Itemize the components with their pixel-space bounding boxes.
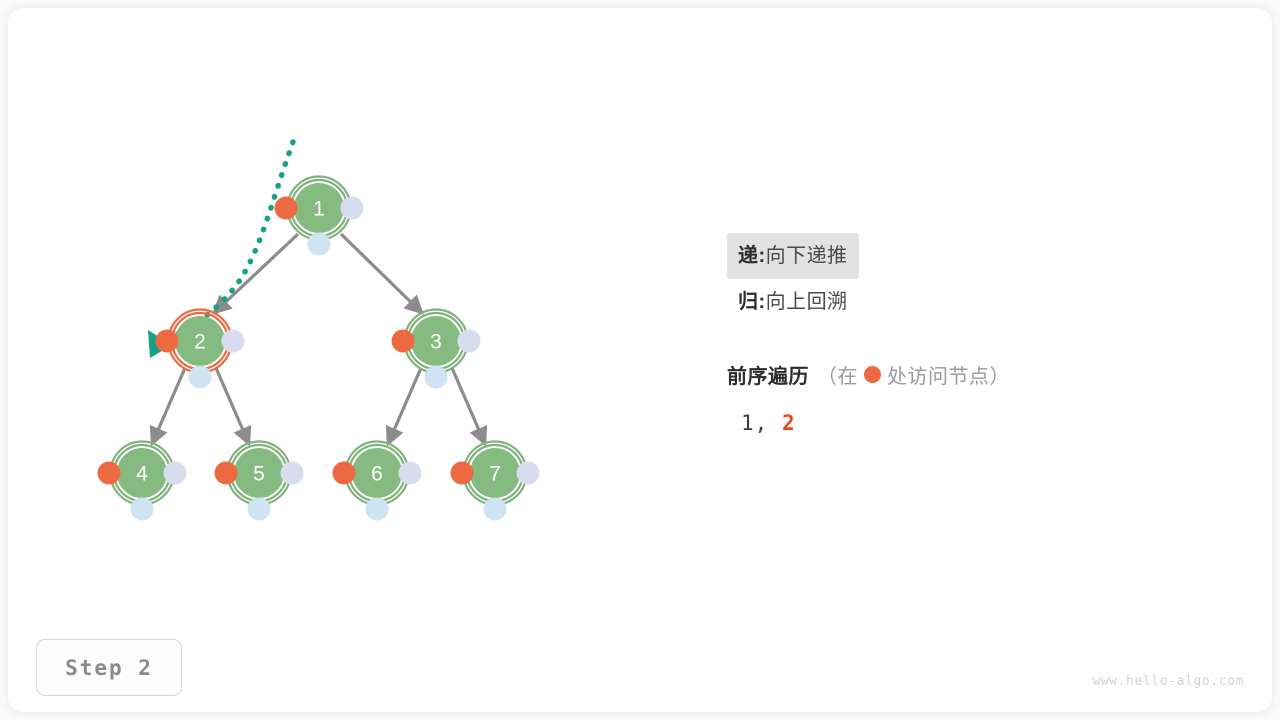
legend-chip-recurse: 递:向下递推 xyxy=(727,233,859,279)
watermark-text: www.hello-algo.com xyxy=(1092,674,1244,689)
orange-visit-dot-icon xyxy=(864,366,881,383)
node-visit-dot xyxy=(98,462,121,485)
legend-key-return: 归: xyxy=(738,291,766,313)
node-port-right xyxy=(458,330,481,353)
tree-node-3[interactable]: 3 xyxy=(392,310,481,389)
node-visit-dot xyxy=(275,197,298,220)
edge-3-6 xyxy=(388,368,421,444)
tree-node-7[interactable]: 7 xyxy=(451,442,540,521)
legend-line-return: 归:向上回溯 xyxy=(727,279,1247,325)
step-badge-label: Step 2 xyxy=(65,656,153,680)
node-port-bottom xyxy=(248,498,271,521)
node-label: 3 xyxy=(430,331,442,354)
node-port-bottom xyxy=(131,498,154,521)
node-port-bottom xyxy=(308,233,331,256)
node-port-right xyxy=(281,462,304,485)
legend-value-return: 向上回溯 xyxy=(766,291,848,313)
node-port-bottom xyxy=(484,498,507,521)
node-port-bottom xyxy=(189,366,212,389)
node-port-bottom xyxy=(366,498,389,521)
tree-node-6[interactable]: 6 xyxy=(333,442,422,521)
edge-1-3 xyxy=(341,234,422,313)
traversal-current-value: 2 xyxy=(782,411,796,435)
recursion-legend: 递:向下递推 归:向上回溯 xyxy=(727,233,1247,325)
node-port-right xyxy=(399,462,422,485)
legend-chip-return: 归:向上回溯 xyxy=(727,279,859,325)
node-label: 6 xyxy=(371,463,383,486)
node-visit-dot xyxy=(451,462,474,485)
edge-2-5 xyxy=(216,368,249,444)
edge-3-7 xyxy=(452,368,485,444)
recursion-path xyxy=(160,142,293,342)
node-label: 7 xyxy=(489,463,501,486)
node-label: 1 xyxy=(313,198,325,221)
traversal-order-title: 前序遍历 （在 处访问节点） xyxy=(727,360,1247,389)
tree-node-2[interactable]: 2 xyxy=(156,310,245,389)
tree-nodes: 1234567 xyxy=(98,177,540,521)
node-port-bottom xyxy=(425,366,448,389)
node-label: 5 xyxy=(253,463,265,486)
node-port-right xyxy=(341,197,364,220)
node-port-right xyxy=(164,462,187,485)
edge-2-4 xyxy=(152,368,185,444)
node-label: 2 xyxy=(194,331,206,354)
node-port-right xyxy=(517,462,540,485)
legend-line-recurse: 递:向下递推 xyxy=(727,233,1247,279)
traversal-note-open: （在 xyxy=(817,360,858,389)
traversal-note-close: 处访问节点） xyxy=(887,360,1010,389)
step-badge: Step 2 xyxy=(36,639,182,696)
node-visit-dot xyxy=(215,462,238,485)
node-visit-dot xyxy=(392,330,415,353)
edge-1-2 xyxy=(214,234,298,313)
traversal-name: 前序遍历 xyxy=(727,360,809,389)
tree-node-4[interactable]: 4 xyxy=(98,442,187,521)
traversal-order-values: 1, 2 xyxy=(741,411,1247,435)
recursion-path-group xyxy=(148,142,293,358)
node-label: 4 xyxy=(136,463,148,486)
legend-value-recurse: 向下递推 xyxy=(766,245,848,267)
traversal-visited-values: 1, xyxy=(741,411,768,435)
site-watermark: www.hello-algo.com xyxy=(1092,674,1244,689)
traversal-order-block: 前序遍历 （在 处访问节点） 1, 2 xyxy=(727,360,1247,435)
screenshot-root: 1234567 递:向下递推 归:向上回溯 前序遍历 （在 处访问节点） 1, … xyxy=(0,0,1280,720)
node-port-right xyxy=(222,330,245,353)
node-visit-dot xyxy=(333,462,356,485)
tree-node-5[interactable]: 5 xyxy=(215,442,304,521)
node-visit-dot xyxy=(156,330,179,353)
legend-key-recurse: 递: xyxy=(738,245,766,267)
